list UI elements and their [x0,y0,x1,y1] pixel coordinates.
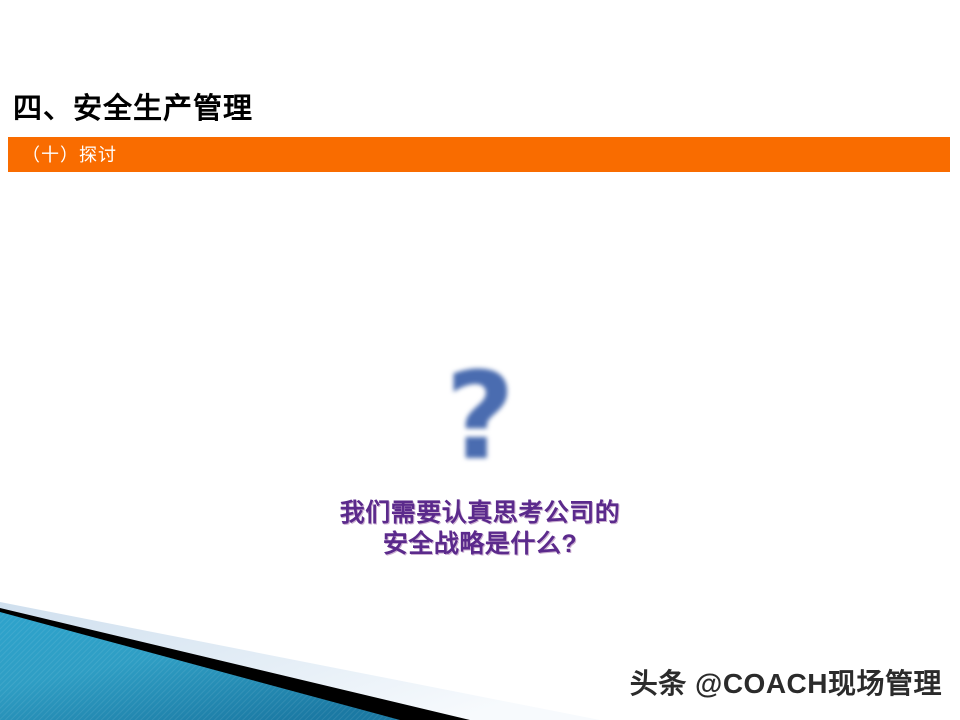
section-banner: （十）探讨 [8,137,950,172]
page-title: 四、安全生产管理 [13,91,253,127]
corner-decoration-graphic [0,600,620,720]
question-mark-icon: ? [0,358,960,478]
section-banner-label: （十）探讨 [22,143,117,167]
presentation-slide: 四、安全生产管理 （十）探讨 ? 我们需要认真思考公司的 安全战略是什么? [0,0,960,720]
watermark-text: 头条 @COACH现场管理 [630,662,942,702]
question-line-1: 我们需要认真思考公司的 [0,498,960,529]
question-text-block: 我们需要认真思考公司的 安全战略是什么? [0,498,960,560]
question-line-2: 安全战略是什么? [0,529,960,560]
